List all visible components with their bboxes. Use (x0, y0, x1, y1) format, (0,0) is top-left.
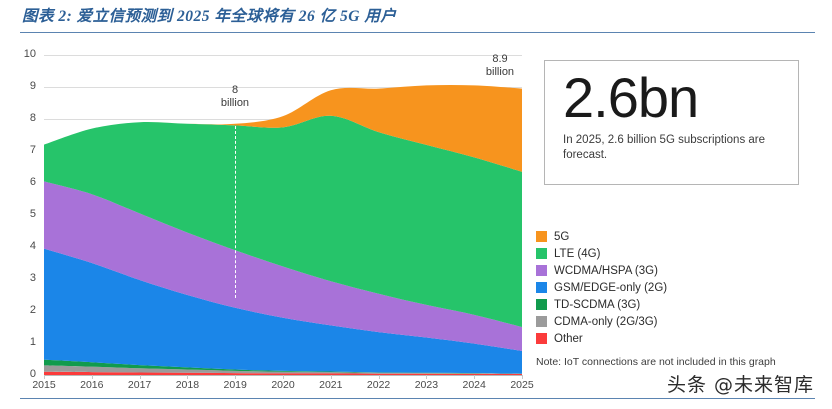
x-axis-tick-mark (44, 375, 45, 379)
x-axis-tick-mark (140, 375, 141, 379)
figure-title-bar: 图表 2: 爱立信预测到 2025 年全球将有 26 亿 5G 用户 (22, 6, 812, 30)
legend-color-swatch (536, 333, 547, 344)
legend-item[interactable]: Other (536, 330, 806, 347)
legend-color-swatch (536, 265, 547, 276)
legend-color-swatch (536, 316, 547, 327)
x-axis-tick-mark (187, 375, 188, 379)
x-axis-tick-mark (92, 375, 93, 379)
callout-headline: 2.6bn (563, 67, 784, 129)
marker-line-2019 (235, 126, 236, 298)
legend-item[interactable]: 5G (536, 228, 806, 245)
x-axis-tick-label: 2018 (165, 379, 209, 391)
legend-item-label: CDMA-only (2G/3G) (554, 316, 658, 328)
y-axis-tick-label: 6 (8, 176, 36, 188)
x-axis-tick-mark (379, 375, 380, 379)
annotation-8-billion: 8 billion (213, 84, 257, 110)
legend-item[interactable]: LTE (4G) (536, 245, 806, 262)
y-axis-tick-label: 10 (8, 48, 36, 60)
legend-item-label: Other (554, 333, 583, 345)
annotation-2019-value: 8 (232, 84, 238, 96)
watermark: 头条 @未来智库 (667, 370, 814, 397)
x-axis-tick-label: 2015 (22, 379, 66, 391)
legend-item-label: 5G (554, 231, 569, 243)
annotation-2019-unit: billion (213, 97, 257, 110)
annotation-2025-unit: billion (478, 66, 522, 79)
legend-color-swatch (536, 299, 547, 310)
legend-item[interactable]: WCDMA/HSPA (3G) (536, 262, 806, 279)
x-axis-tick-mark (474, 375, 475, 379)
y-axis-tick-label: 8 (8, 112, 36, 124)
x-axis-tick-label: 2016 (70, 379, 114, 391)
y-axis-tick-label: 7 (8, 144, 36, 156)
chart-container: 012345678910 201520162017201820192020202… (0, 38, 832, 396)
x-axis-tick-mark (235, 375, 236, 379)
area-chart-svg (44, 55, 522, 375)
figure-divider-bottom (20, 398, 815, 399)
legend-item-label: LTE (4G) (554, 248, 600, 260)
x-axis-tick-label: 2022 (357, 379, 401, 391)
legend-item-label: GSM/EDGE-only (2G) (554, 282, 667, 294)
x-axis-tick-label: 2017 (118, 379, 162, 391)
legend-item[interactable]: TD-SCDMA (3G) (536, 296, 806, 313)
legend-item[interactable]: GSM/EDGE-only (2G) (536, 279, 806, 296)
x-axis-tick-label: 2025 (500, 379, 544, 391)
figure-page: 图表 2: 爱立信预测到 2025 年全球将有 26 亿 5G 用户 01234… (0, 0, 832, 409)
y-axis-tick-label: 5 (8, 208, 36, 220)
callout-box: 2.6bn In 2025, 2.6 billion 5G subscripti… (544, 60, 799, 185)
legend-rows: 5GLTE (4G)WCDMA/HSPA (3G)GSM/EDGE-only (… (536, 228, 806, 347)
x-axis-tick-mark (522, 375, 523, 379)
y-axis-tick-label: 3 (8, 272, 36, 284)
page-title: 图表 2: 爱立信预测到 2025 年全球将有 26 亿 5G 用户 (22, 6, 812, 28)
x-axis-tick-label: 2023 (404, 379, 448, 391)
x-axis-tick-mark (426, 375, 427, 379)
x-axis-tick-mark (283, 375, 284, 379)
chart-legend: 5GLTE (4G)WCDMA/HSPA (3G)GSM/EDGE-only (… (536, 228, 806, 369)
callout-description: In 2025, 2.6 billion 5G subscriptions ar… (563, 133, 784, 163)
annotation-8-9-billion: 8.9 billion (478, 53, 522, 79)
legend-item[interactable]: CDMA-only (2G/3G) (536, 313, 806, 330)
y-axis-tick-label: 4 (8, 240, 36, 252)
y-axis-tick-label: 2 (8, 304, 36, 316)
x-axis-tick-mark (331, 375, 332, 379)
x-axis-tick-label: 2020 (261, 379, 305, 391)
y-axis-tick-label: 9 (8, 80, 36, 92)
legend-color-swatch (536, 231, 547, 242)
legend-color-swatch (536, 282, 547, 293)
title-divider-top (20, 32, 815, 33)
legend-color-swatch (536, 248, 547, 259)
x-axis-tick-label: 2024 (452, 379, 496, 391)
x-axis-tick-label: 2021 (309, 379, 353, 391)
stacked-area-plot (44, 55, 522, 375)
legend-note: Note: IoT connections are not included i… (536, 356, 806, 369)
annotation-2025-value: 8.9 (492, 53, 507, 65)
x-axis-tick-label: 2019 (213, 379, 257, 391)
legend-item-label: TD-SCDMA (3G) (554, 299, 640, 311)
y-axis-tick-label: 1 (8, 336, 36, 348)
legend-item-label: WCDMA/HSPA (3G) (554, 265, 658, 277)
